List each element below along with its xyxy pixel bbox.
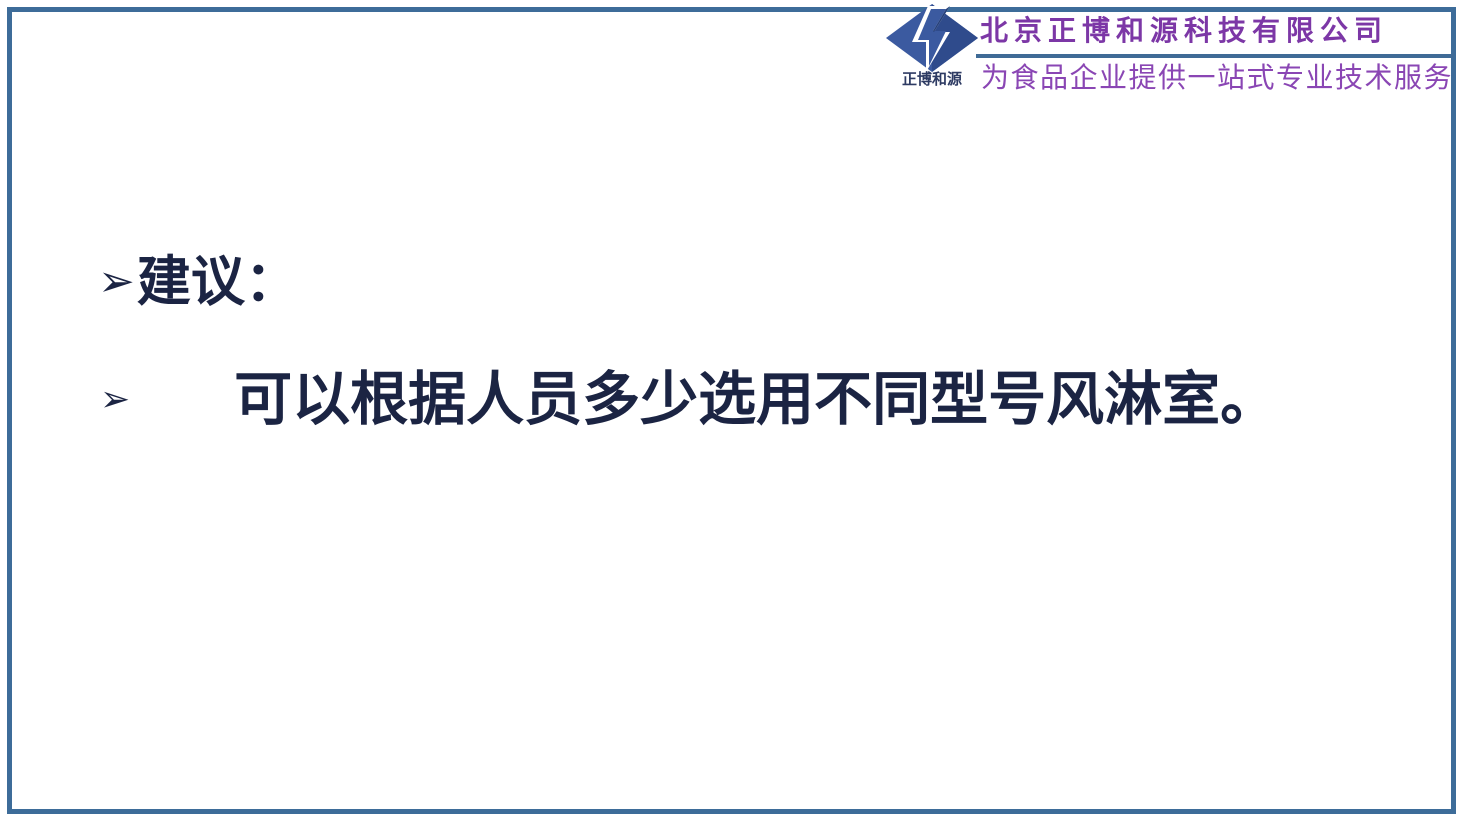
bullet-label: 可以根据人员多少选用不同型号风淋室。 [234, 368, 1278, 432]
bullet-label: 建议： [137, 252, 299, 311]
bullet-item: ➢ 可以根据人员多少选用不同型号风淋室。 [100, 368, 1278, 432]
bullet-item: ➢ 建议： [98, 252, 299, 311]
slide-canvas: 正博和源 北京正博和源科技有限公司 为食品企业提供一站式专业技术服务 ➢ 建议：… [0, 0, 1466, 824]
slide-body: ➢ 建议： ➢ 可以根据人员多少选用不同型号风淋室。 [0, 0, 1466, 824]
arrow-bullet-icon: ➢ [100, 382, 130, 418]
arrow-bullet-icon: ➢ [98, 260, 135, 304]
